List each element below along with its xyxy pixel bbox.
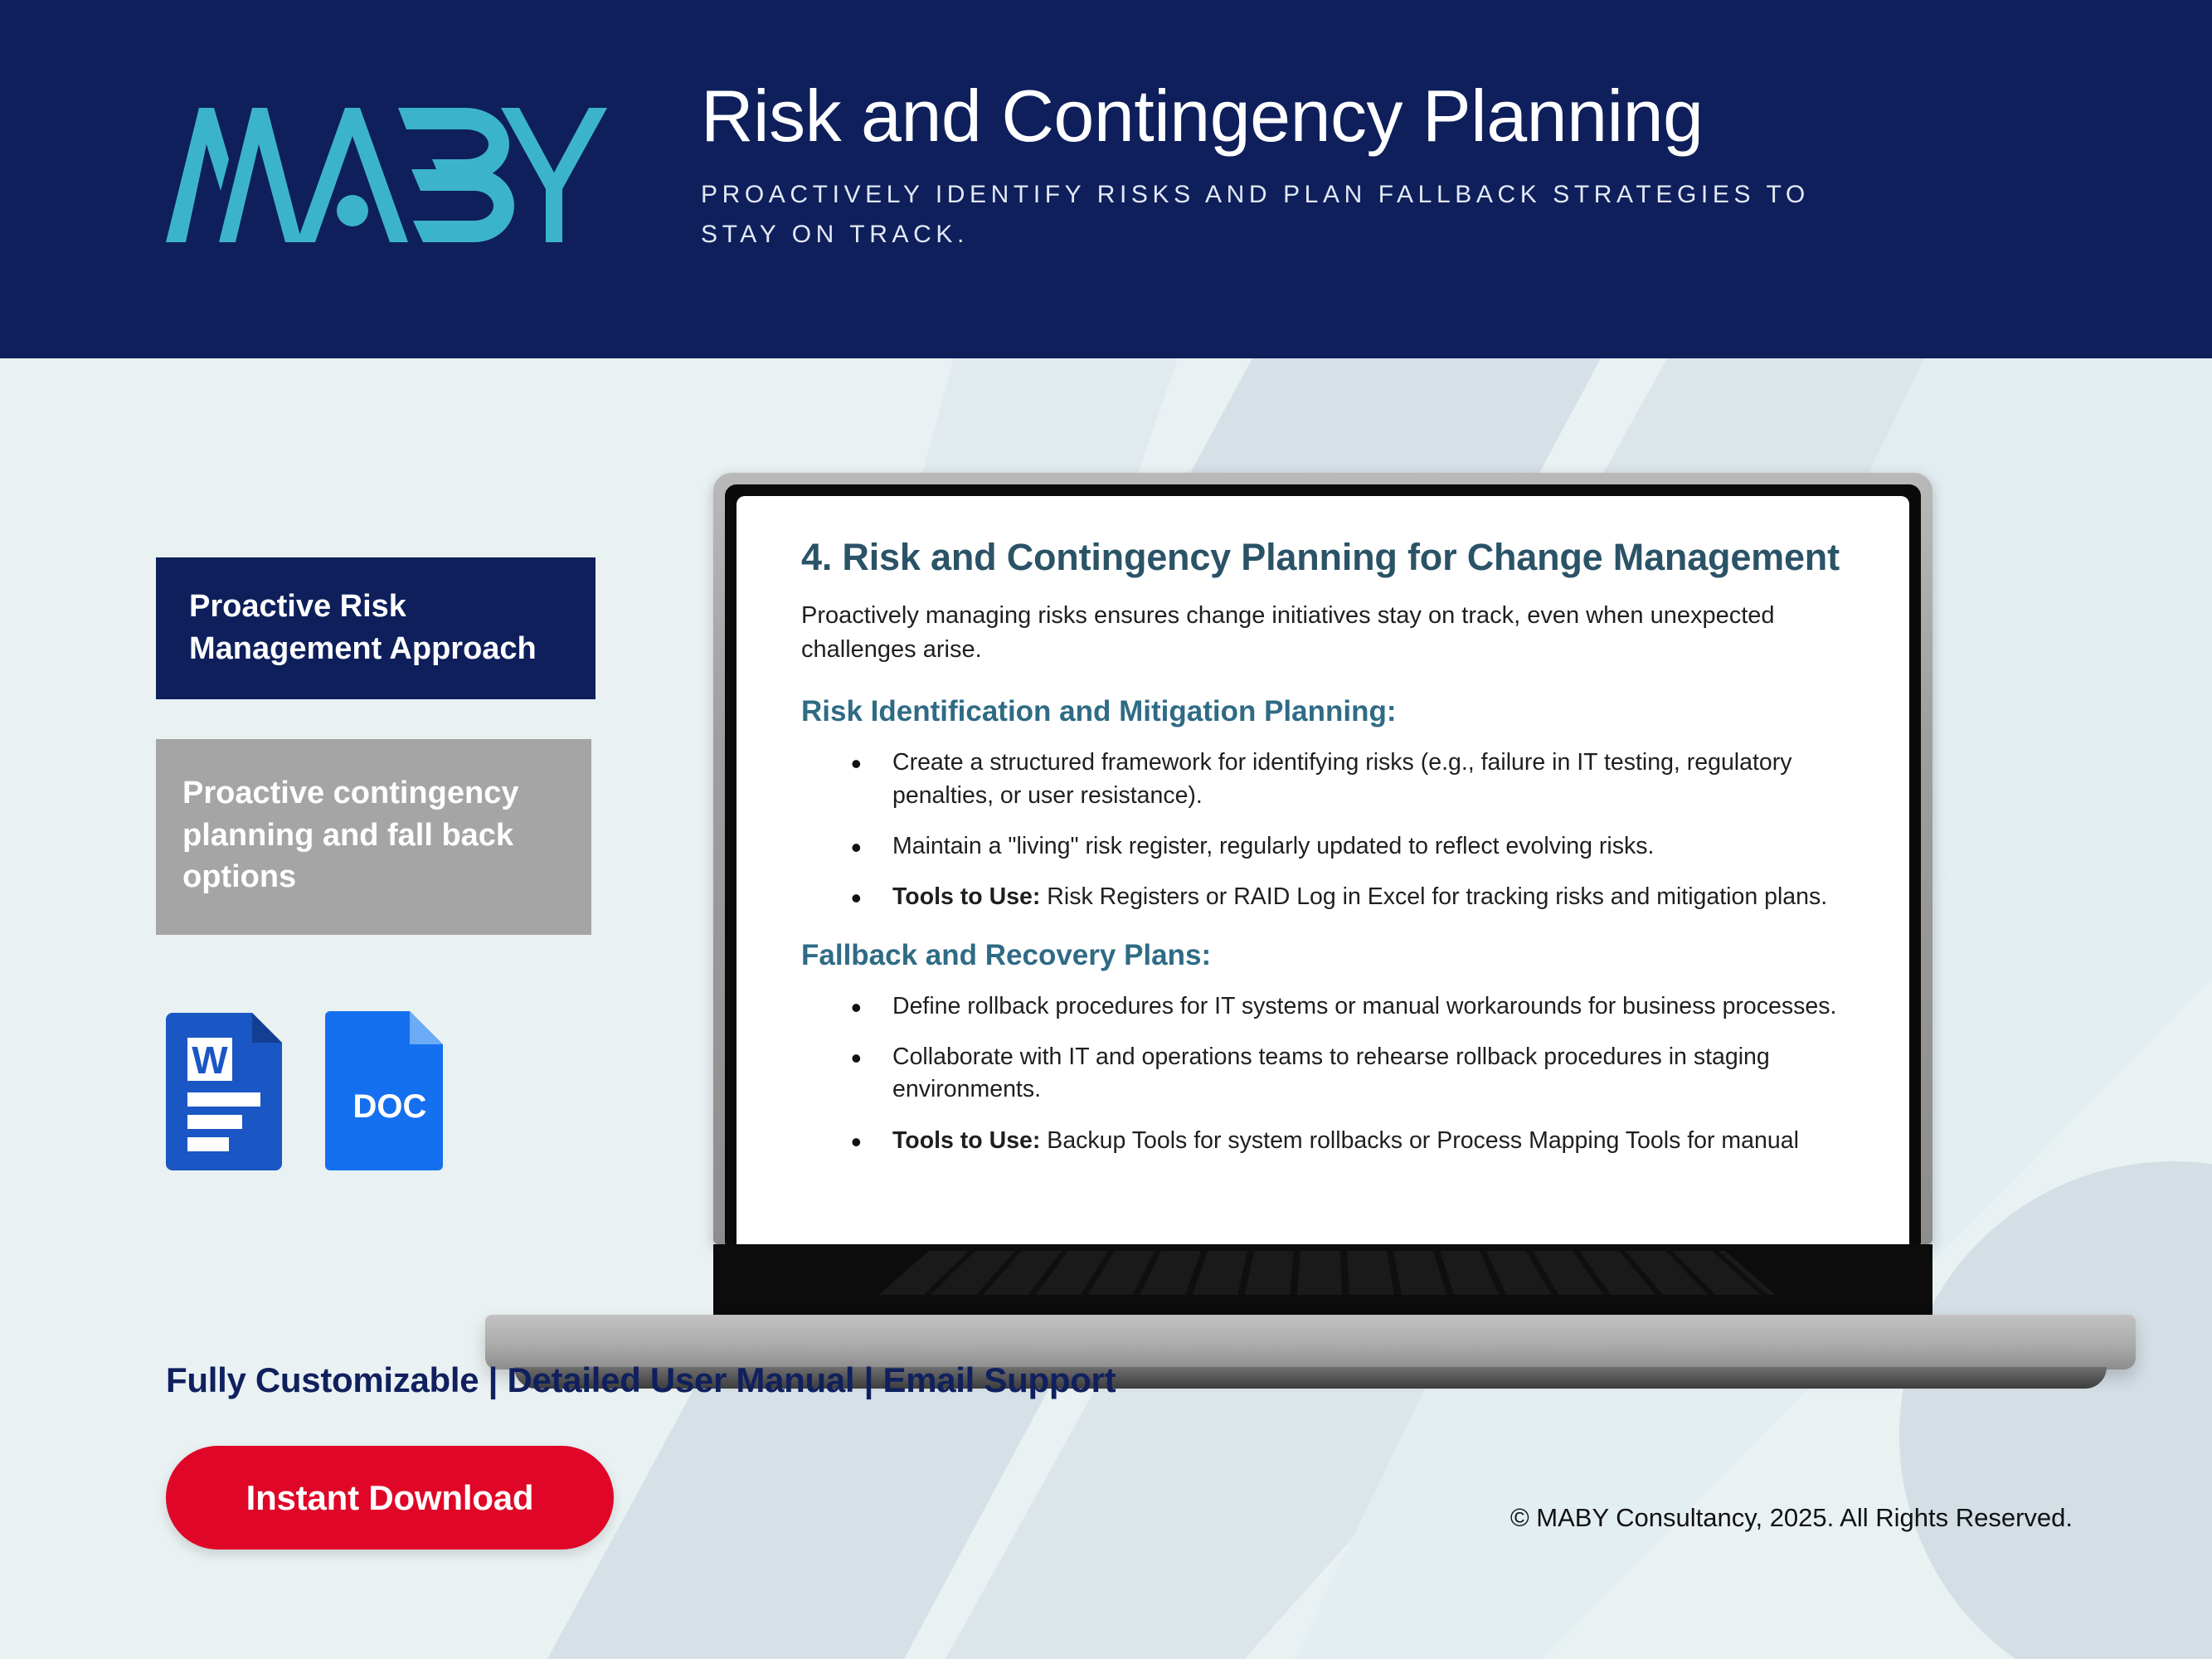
list-item: Tools to Use: Backup Tools for system ro…: [801, 1125, 1871, 1157]
laptop-bezel: 4. Risk and Contingency Planning for Cha…: [725, 484, 1921, 1244]
document-heading: 4. Risk and Contingency Planning for Cha…: [801, 536, 1871, 579]
maby-logo[interactable]: [149, 93, 647, 251]
page-subtitle: PROACTIVELY IDENTIFY RISKS AND PLAN FALL…: [701, 175, 1829, 255]
document-bullet-list-fallback: Define rollback procedures for IT system…: [801, 990, 1871, 1157]
list-item: Maintain a "living" risk register, regul…: [801, 830, 1871, 863]
document-subheading-fallback-recovery: Fallback and Recovery Plans:: [801, 939, 1871, 972]
bullet-text: Collaborate with IT and operations teams…: [892, 1044, 1770, 1102]
bullet-bold-lead: Tools to Use:: [892, 1127, 1040, 1154]
document-bullet-list-risk: Create a structured framework for identi…: [801, 747, 1871, 913]
bullet-text: Backup Tools for system rollbacks or Pro…: [1040, 1127, 1799, 1154]
maby-logo-svg: [149, 93, 647, 251]
bullet-bold-lead: Tools to Use:: [892, 883, 1040, 910]
word-doc-icon-letter: W: [192, 1039, 228, 1082]
doc-file-icon[interactable]: DOC: [325, 1006, 448, 1170]
word-doc-icon[interactable]: W: [164, 1006, 287, 1170]
header-text-block: Risk and Contingency Planning PROACTIVEL…: [701, 76, 2127, 255]
features-line: Fully Customizable | Detailed User Manua…: [166, 1360, 1116, 1400]
doc-file-icon-label: DOC: [353, 1088, 427, 1125]
list-item: Tools to Use: Risk Registers or RAID Log…: [801, 881, 1871, 913]
instant-download-button[interactable]: Instant Download: [166, 1446, 614, 1550]
laptop-lid: 4. Risk and Contingency Planning for Cha…: [713, 473, 1932, 1244]
laptop-keyboard: [713, 1244, 1932, 1323]
page-title: Risk and Contingency Planning: [701, 76, 2127, 157]
bullet-text: Maintain a "living" risk register, regul…: [892, 833, 1654, 859]
list-item: Define rollback procedures for IT system…: [801, 990, 1871, 1023]
laptop-screen: 4. Risk and Contingency Planning for Cha…: [737, 496, 1909, 1244]
list-item: Create a structured framework for identi…: [801, 747, 1871, 812]
bullet-text: Define rollback procedures for IT system…: [892, 993, 1836, 1019]
document-intro: Proactively managing risks ensures chang…: [801, 599, 1871, 667]
badge-proactive-risk-management: Proactive Risk Management Approach: [156, 557, 596, 699]
bullet-text: Create a structured framework for identi…: [892, 749, 1792, 808]
list-item: Collaborate with IT and operations teams…: [801, 1041, 1871, 1107]
badge-contingency-planning: Proactive contingency planning and fall …: [156, 739, 591, 935]
bullet-text: Risk Registers or RAID Log in Excel for …: [1040, 883, 1827, 910]
document-subheading-risk-identification: Risk Identification and Mitigation Plann…: [801, 695, 1871, 728]
doc-file-icon-svg: DOC: [325, 1006, 448, 1170]
laptop-mockup: 4. Risk and Contingency Planning for Cha…: [713, 473, 2040, 1302]
left-column: Proactive Risk Management Approach Proac…: [156, 557, 596, 1170]
laptop-keyboard-keys: [878, 1251, 1775, 1295]
file-format-icons: W DOC: [164, 1006, 596, 1170]
word-doc-icon-svg: W: [164, 1006, 287, 1170]
copyright-text: © MABY Consultancy, 2025. All Rights Res…: [1510, 1503, 2073, 1533]
page-header: Risk and Contingency Planning PROACTIVEL…: [0, 0, 2212, 358]
